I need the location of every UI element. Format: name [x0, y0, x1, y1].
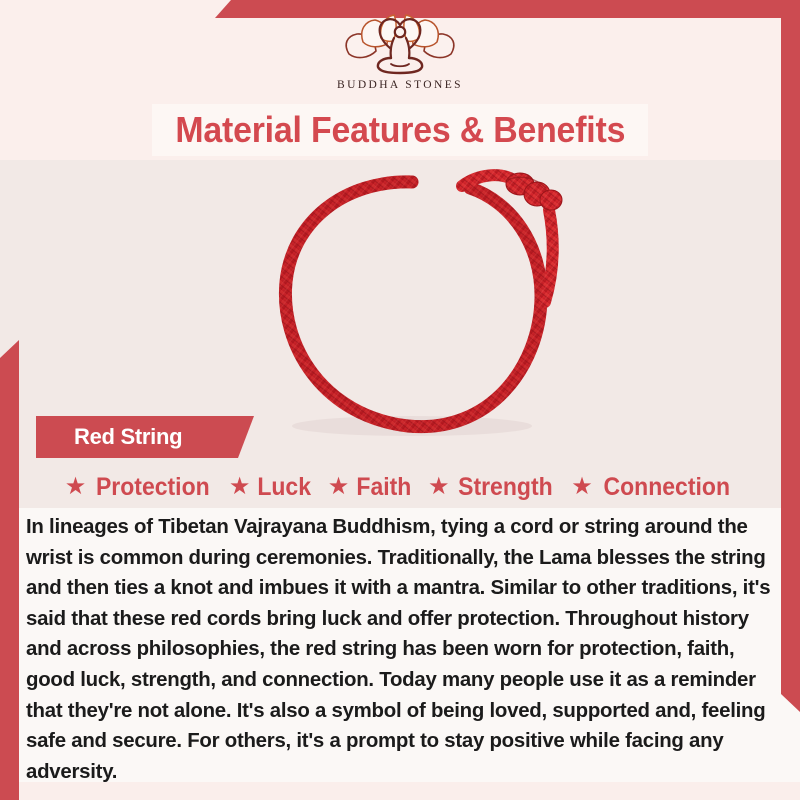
- benefit-label: Faith: [357, 473, 412, 502]
- benefit-item-faith: ★ Faith: [324, 473, 418, 502]
- product-image-red-string-bracelet: [0, 150, 800, 450]
- star-icon: ★: [571, 475, 593, 499]
- star-icon: ★: [428, 475, 450, 499]
- brand-name: BUDDHA STONES: [337, 79, 463, 91]
- headline-band: Material Features & Benefits: [152, 104, 648, 156]
- description-text: In lineages of Tibetan Vajrayana Buddhis…: [26, 512, 778, 787]
- benefit-label: Protection: [96, 473, 210, 502]
- benefit-item-luck: ★ Luck: [225, 473, 318, 502]
- benefit-item-protection: ★ Protection: [61, 473, 219, 502]
- brand-logo: BUDDHA STONES: [0, 14, 800, 91]
- benefits-row: ★ Protection ★ Luck ★ Faith ★ Strength ★…: [0, 466, 800, 508]
- material-features-poster: BUDDHA STONES Material Features & Benefi…: [0, 0, 800, 800]
- star-icon: ★: [328, 475, 350, 499]
- material-label-banner: Red String: [36, 416, 254, 458]
- benefit-item-connection: ★ Connection: [567, 473, 739, 502]
- benefit-item-strength: ★ Strength: [424, 473, 561, 502]
- benefit-label: Connection: [603, 473, 730, 502]
- lotus-meditation-figure-icon: [337, 14, 463, 76]
- star-icon: ★: [65, 475, 87, 499]
- page-title: Material Features & Benefits: [175, 109, 625, 151]
- benefit-label: Luck: [258, 473, 312, 502]
- benefit-label: Strength: [459, 473, 554, 502]
- star-icon: ★: [229, 475, 251, 499]
- material-label-text: Red String: [74, 424, 182, 450]
